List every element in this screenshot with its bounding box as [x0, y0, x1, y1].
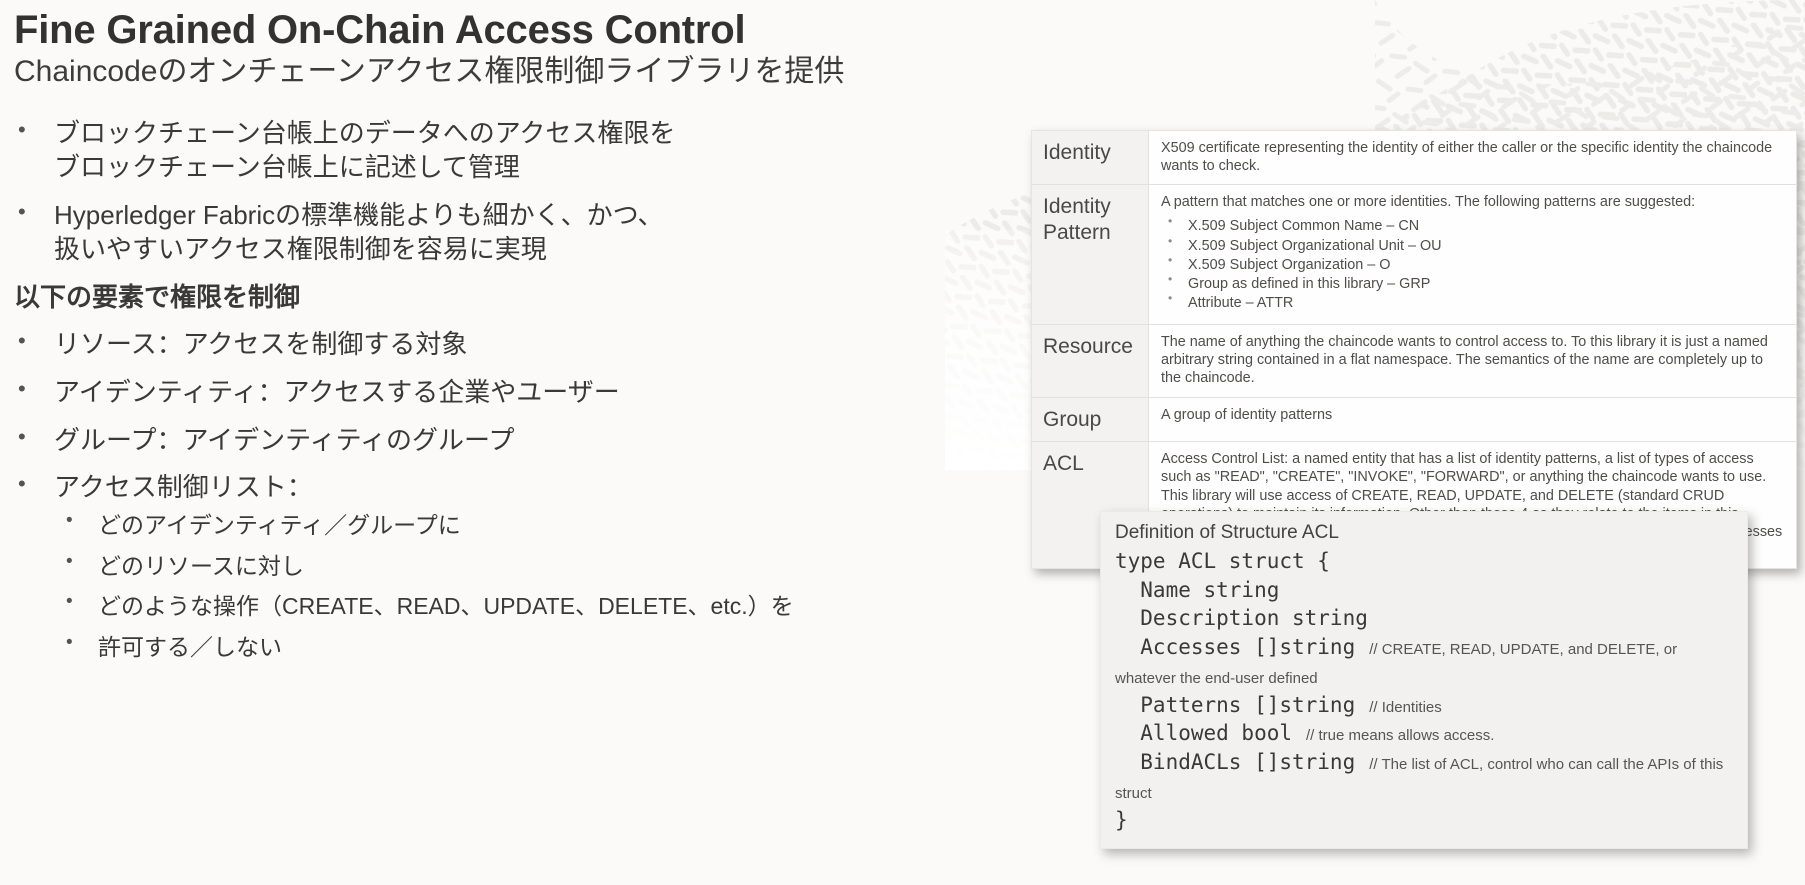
list-item: アクセス制御リスト： どのアイデンティティ／グループに どのリソースに対し どの…	[14, 470, 990, 663]
table-desc-text: A group of identity patterns	[1161, 406, 1784, 424]
table-row: Resource The name of anything the chainc…	[1032, 325, 1796, 397]
code-definition-panel: Definition of Structure ACL type ACL str…	[1100, 511, 1748, 849]
table-row: Group A group of identity patterns	[1032, 398, 1796, 443]
code-line: type ACL struct {	[1115, 547, 1733, 576]
code-panel-caption: Definition of Structure ACL	[1115, 521, 1733, 545]
code-line: Description string	[1115, 604, 1733, 633]
bullet-text-0: ブロックチェーン台帳上のデータへのアクセス権限をブロックチェーン台帳上に記述して…	[54, 118, 675, 183]
list-item: Group as defined in this library – GRP	[1161, 275, 1784, 294]
list-item: Attribute – ATTR	[1161, 294, 1784, 313]
code-text: Allowed bool	[1115, 721, 1292, 745]
code-text: BindACLs []string	[1115, 750, 1355, 774]
code-line: Patterns []string// Identities	[1115, 691, 1733, 720]
list-item: X.509 Subject Organizational Unit – OU	[1161, 237, 1784, 256]
identity-pattern-list: X.509 Subject Common Name – CN X.509 Sub…	[1161, 217, 1784, 313]
terminology-table: Identity X509 certificate representing t…	[1031, 130, 1797, 569]
code-text: Accesses []string	[1115, 635, 1355, 659]
table-desc-text: A pattern that matches one or more ident…	[1161, 193, 1784, 211]
main-bullet-list: ブロックチェーン台帳上のデータへのアクセス権限をブロックチェーン台帳上に記述して…	[0, 116, 990, 664]
list-item: X.509 Subject Common Name – CN	[1161, 217, 1784, 236]
code-line: Accesses []string// CREATE, READ, UPDATE…	[1115, 633, 1733, 691]
element-bullet-3: アクセス制御リスト：	[54, 472, 313, 502]
code-text: Patterns []string	[1115, 693, 1355, 717]
acl-sub-bullet-2: どのような操作（CREATE、READ、UPDATE、DELETE、etc.）を	[98, 593, 794, 619]
list-item: どのような操作（CREATE、READ、UPDATE、DELETE、etc.）を	[54, 592, 990, 622]
list-item: アイデンティティ：アクセスする企業やユーザー	[14, 375, 990, 410]
table-term-resource: Resource	[1032, 325, 1149, 396]
list-item: どのアイデンティティ／グループに	[54, 511, 990, 541]
table-desc-group: A group of identity patterns	[1149, 398, 1796, 442]
slide-content-left: Fine Grained On-Chain Access Control Cha…	[0, 0, 990, 676]
code-line: }	[1115, 806, 1733, 835]
table-row: Identity Pattern A pattern that matches …	[1032, 185, 1796, 325]
table-term-group: Group	[1032, 398, 1149, 442]
acl-sub-bullet-0: どのアイデンティティ／グループに	[98, 512, 461, 538]
code-block: type ACL struct { Name string Descriptio…	[1115, 547, 1733, 835]
list-item: 許可する／しない	[54, 633, 990, 663]
code-comment: // true means allows access.	[1306, 727, 1494, 744]
list-item: ブロックチェーン台帳上のデータへのアクセス権限をブロックチェーン台帳上に記述して…	[14, 116, 990, 185]
code-line: Name string	[1115, 576, 1733, 605]
acl-sub-bullet-3: 許可する／しない	[98, 634, 282, 660]
bullet-text-1: Hyperledger Fabricの標準機能よりも細かく、かつ、扱いやすいアク…	[54, 200, 664, 265]
table-desc-identity: X509 certificate representing the identi…	[1149, 131, 1796, 184]
table-desc-resource: The name of anything the chaincode wants…	[1149, 325, 1796, 396]
code-line: BindACLs []string// The list of ACL, con…	[1115, 748, 1733, 806]
page-title: Fine Grained On-Chain Access Control	[14, 8, 990, 52]
list-item: どのリソースに対し	[54, 552, 990, 582]
element-bullet-2: グループ：アイデンティティのグループ	[54, 425, 514, 455]
list-item: リソース：アクセスを制御する対象	[14, 327, 990, 362]
code-text: Name string	[1115, 578, 1279, 602]
list-item: Hyperledger Fabricの標準機能よりも細かく、かつ、扱いやすいアク…	[14, 198, 990, 267]
table-term-identity: Identity	[1032, 131, 1149, 184]
table-desc-identity-pattern: A pattern that matches one or more ident…	[1149, 185, 1796, 324]
code-line: Allowed bool// true means allows access.	[1115, 719, 1733, 748]
list-item: X.509 Subject Organization – O	[1161, 256, 1784, 275]
page-subtitle: Chaincodeのオンチェーンアクセス権限制御ライブラリを提供	[14, 55, 990, 90]
code-comment: // Identities	[1369, 699, 1442, 716]
element-bullet-1: アイデンティティ：アクセスする企業やユーザー	[54, 377, 620, 407]
table-row: Identity X509 certificate representing t…	[1032, 131, 1796, 185]
code-text: }	[1115, 808, 1128, 832]
acl-sub-bullet-list: どのアイデンティティ／グループに どのリソースに対し どのような操作（CREAT…	[54, 511, 990, 664]
acl-sub-bullet-1: どのリソースに対し	[98, 553, 304, 579]
list-item: グループ：アイデンティティのグループ	[14, 423, 990, 458]
element-bullet-0: リソース：アクセスを制御する対象	[54, 329, 467, 359]
code-text: type ACL struct {	[1115, 549, 1330, 573]
table-desc-text: The name of anything the chaincode wants…	[1161, 333, 1784, 387]
table-term-identity-pattern: Identity Pattern	[1032, 185, 1149, 324]
table-desc-text: X509 certificate representing the identi…	[1161, 139, 1784, 175]
section-heading: 以下の要素で権限を制御	[14, 280, 990, 315]
code-text: Description string	[1115, 606, 1368, 630]
